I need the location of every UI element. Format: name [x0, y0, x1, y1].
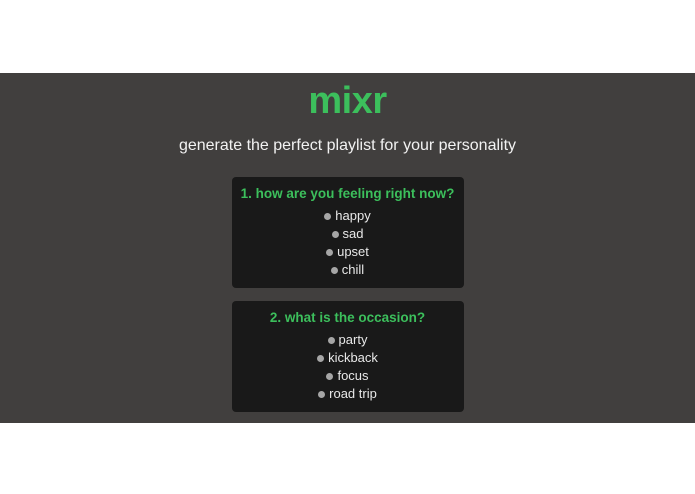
radio-icon[interactable] [317, 355, 324, 362]
radio-icon[interactable] [318, 391, 325, 398]
radio-icon[interactable] [324, 213, 331, 220]
radio-icon[interactable] [328, 337, 335, 344]
option-label: chill [342, 261, 364, 279]
radio-icon[interactable] [326, 373, 333, 380]
option-item[interactable]: sad [232, 225, 464, 243]
question-card: 1. how are you feeling right now? happy … [232, 177, 464, 288]
option-label: kickback [328, 349, 378, 367]
option-item[interactable]: focus [232, 367, 464, 385]
option-label: party [339, 331, 368, 349]
page-content: mixr generate the perfect playlist for y… [0, 73, 695, 423]
option-label: sad [343, 225, 364, 243]
option-label: road trip [329, 385, 377, 403]
option-list: happy sad upset chill [232, 203, 464, 279]
page-title: mixr [0, 79, 695, 123]
question-title: 1. how are you feeling right now? [232, 184, 464, 203]
option-list: party kickback focus road trip [232, 327, 464, 403]
option-label: happy [335, 207, 370, 225]
option-item[interactable]: chill [232, 261, 464, 279]
option-item[interactable]: upset [232, 243, 464, 261]
option-label: upset [337, 243, 369, 261]
option-label: focus [337, 367, 368, 385]
radio-icon[interactable] [326, 249, 333, 256]
option-item[interactable]: party [232, 331, 464, 349]
page-viewport: mixr generate the perfect playlist for y… [0, 73, 695, 423]
question-card: 2. what is the occasion? party kickback … [232, 301, 464, 412]
option-item[interactable]: kickback [232, 349, 464, 367]
option-item[interactable]: happy [232, 207, 464, 225]
option-item[interactable]: road trip [232, 385, 464, 403]
page-tagline: generate the perfect playlist for your p… [0, 123, 695, 156]
question-title: 2. what is the occasion? [232, 308, 464, 327]
question-list: 1. how are you feeling right now? happy … [0, 156, 695, 423]
radio-icon[interactable] [331, 267, 338, 274]
radio-icon[interactable] [332, 231, 339, 238]
